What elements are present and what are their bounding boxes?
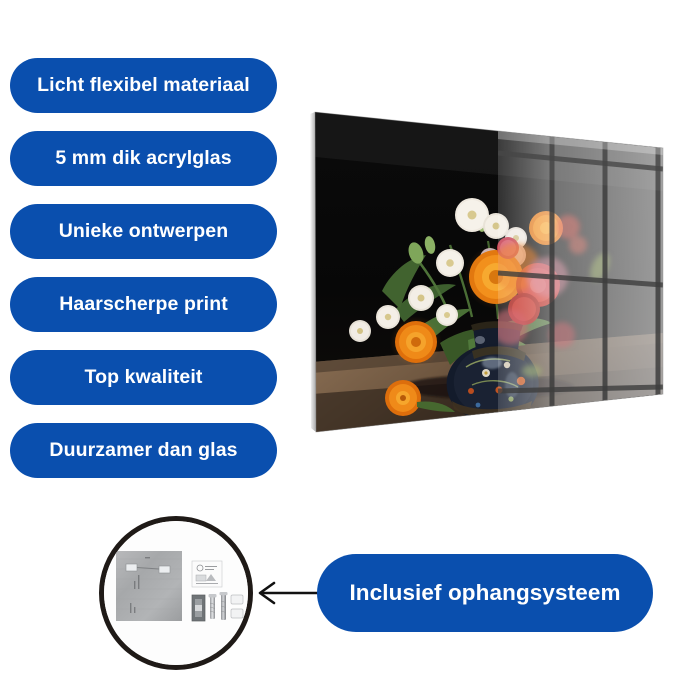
artwork-face <box>300 95 685 450</box>
badge-haarscherpe-print[interactable]: Haarscherpe print <box>10 277 277 332</box>
product-feature-infographic: Licht flexibel materiaal 5 mm dik acrylg… <box>0 0 700 700</box>
badge-label: 5 mm dik acrylglas <box>55 149 231 169</box>
badge-label: Haarscherpe print <box>59 295 228 315</box>
badge-label: Top kwaliteit <box>85 368 203 388</box>
mounting-hardware-photo <box>104 521 248 665</box>
badge-label: Inclusief ophangsysteem <box>349 582 620 605</box>
badge-duurzamer-dan-glas[interactable]: Duurzamer dan glas <box>10 423 277 478</box>
badge-label: Licht flexibel materiaal <box>37 76 250 96</box>
arrow-left-icon <box>248 575 328 611</box>
badge-licht-flexibel-materiaal[interactable]: Licht flexibel materiaal <box>10 58 277 113</box>
spacer-tool <box>192 595 205 621</box>
hanging-system-callout-circle <box>99 516 253 670</box>
badge-5-mm-dik-acrylglas[interactable]: 5 mm dik acrylglas <box>10 131 277 186</box>
badge-unieke-ontwerpen[interactable]: Unieke ontwerpen <box>10 204 277 259</box>
badge-inclusief-ophangsysteem[interactable]: Inclusief ophangsysteem <box>317 554 653 632</box>
badge-top-kwaliteit[interactable]: Top kwaliteit <box>10 350 277 405</box>
badge-label: Duurzamer dan glas <box>49 441 237 461</box>
mounting-plate <box>116 551 182 621</box>
acrylic-glass-panel <box>300 95 685 450</box>
badge-label: Unieke ontwerpen <box>59 222 229 242</box>
instruction-card <box>192 561 222 587</box>
